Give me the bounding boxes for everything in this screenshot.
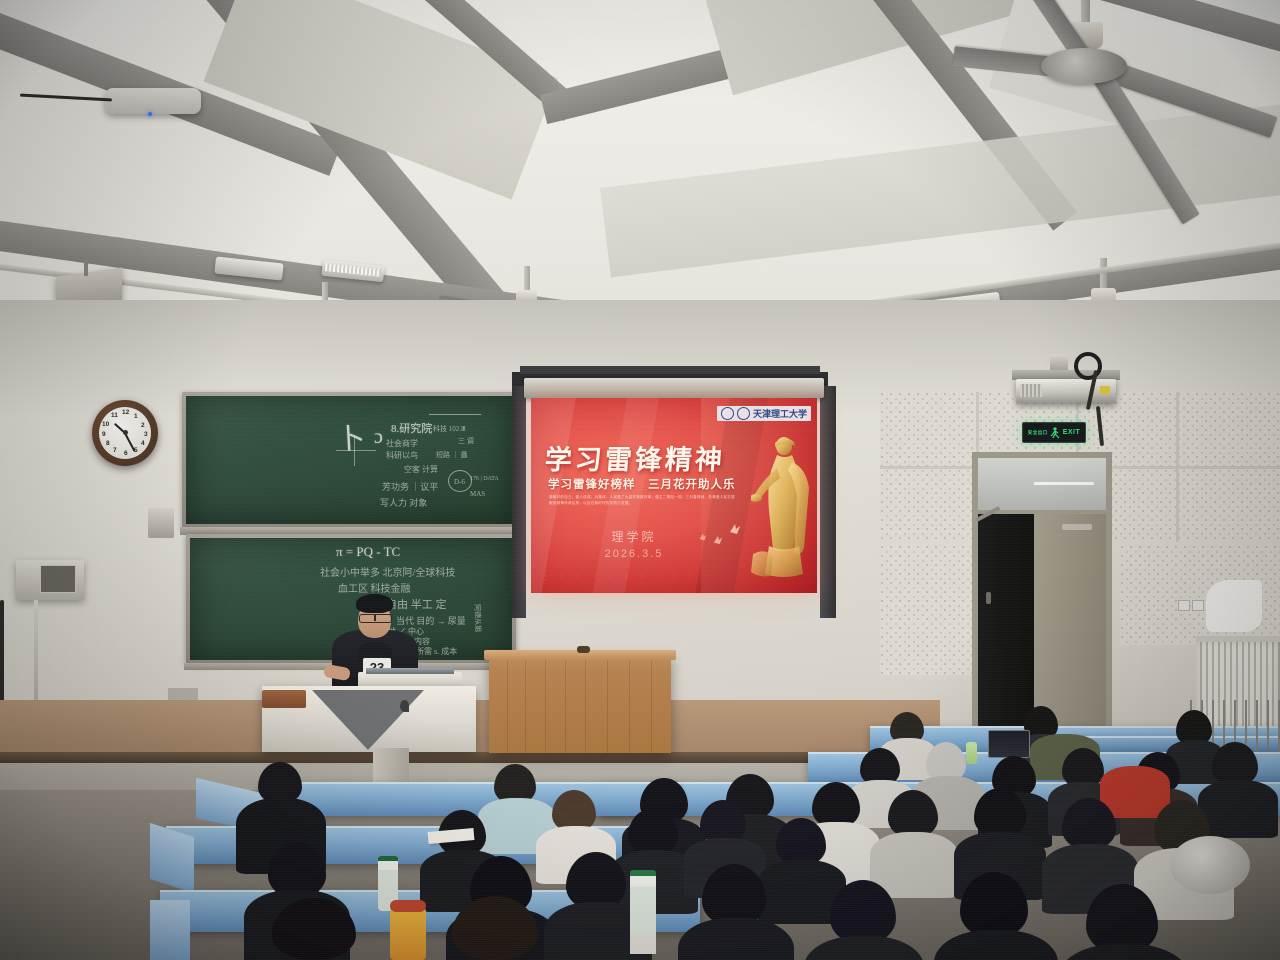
wall-paint-patch: [1206, 580, 1262, 632]
exit-sign-chinese: 安全出口: [1028, 430, 1048, 436]
tjut-emblem-icon: [721, 407, 734, 420]
wall-speaker: [148, 508, 174, 538]
radiator-top-rail: [1196, 636, 1280, 642]
lecture-hall-photo: 12 1 2 3 4 5 6 7 8 9 10 11 卜 ɔ 8.研究院 社会商…: [0, 0, 1280, 960]
bottle-label: [630, 934, 656, 954]
clock-numeral: 3: [144, 431, 148, 438]
projector-mount: [1050, 354, 1068, 370]
chalk-note: 科技 102.Ⅲ: [433, 424, 466, 434]
chalk-note: MAS: [470, 490, 485, 498]
wall-outlet: [1192, 600, 1204, 611]
chalk-line: 所需 s. 成本: [416, 646, 457, 657]
podium-monitor: [366, 668, 454, 674]
chalk-note: 短路 ｜ 蟲: [436, 450, 468, 460]
presenter-hair: [356, 594, 393, 613]
university-name: 天津理工大学: [753, 407, 807, 420]
chalk-line: 社会小中举多 北京阿/全球科技: [320, 564, 455, 579]
window-reflection: [1034, 482, 1094, 485]
slide-date: 2026.3.5: [531, 548, 737, 560]
chalk-line: 芳功务 ｜议平: [382, 480, 438, 493]
screen-soffit: [520, 366, 820, 374]
laptop[interactable]: [988, 730, 1030, 758]
fan-hub: [1041, 48, 1127, 84]
podium-side-shelf: [262, 690, 306, 708]
door-handle: [986, 592, 991, 604]
clock-numeral: 4: [141, 440, 145, 447]
projector-label: [1100, 386, 1110, 394]
podium-keyhole-icon: [400, 700, 409, 712]
clock-numeral: 12: [122, 409, 129, 416]
chalk-line: 社会商学: [386, 438, 418, 449]
screen-side-wall: [512, 386, 526, 618]
clock-numeral: 7: [113, 447, 117, 454]
podium-front-panel: [312, 690, 424, 750]
clock-numeral: 2: [141, 422, 145, 429]
desk-side-panel: [150, 900, 190, 960]
chalk-line: 空客 计算: [404, 464, 438, 475]
floodlight-bracket: [84, 258, 88, 276]
chalk-line: π = PQ - TC: [336, 544, 400, 560]
stage-edge: [0, 752, 940, 763]
water-bottle: [630, 870, 656, 942]
slide-subtitle: 学习雷锋好榜样 三月花开助人乐: [548, 476, 744, 492]
ceiling: [0, 0, 1280, 345]
chalk-line: 科研以鸟: [386, 450, 418, 461]
clock-numeral: 9: [102, 431, 106, 438]
chalk-line: 写人力 对象: [380, 496, 427, 509]
clock-numeral: 8: [106, 440, 110, 447]
clock-minute-hand: [124, 432, 135, 451]
clock-numeral: 10: [102, 421, 109, 428]
cable-coil: [1074, 352, 1102, 380]
chalk-note: 176 | DATA: [470, 476, 499, 482]
desk-object: [577, 646, 590, 653]
university-logo-bar: 天津理工大学: [717, 406, 811, 421]
slide-main-title: 学习雷锋精神: [544, 438, 737, 477]
tjut-emblem-icon: [737, 407, 750, 420]
electrical-junction-box: [16, 560, 84, 600]
chalk-note: 三 调: [458, 436, 474, 446]
slide-organization: 理学院: [531, 528, 737, 545]
slide-footer: • • • • • • • • • • • •: [545, 574, 725, 582]
exit-sign-english: EXIT: [1063, 429, 1081, 436]
ceiling-projector: [1012, 366, 1120, 406]
upper-blackboard-frame: 卜 ɔ 8.研究院 社会商学 科研以鸟 空客 计算 芳功务 ｜议平 写人力 对象…: [182, 392, 518, 528]
door-open-leaf: [978, 514, 1034, 742]
projection-screen[interactable]: 天津理工大学: [531, 398, 817, 593]
fur-hood: [1170, 836, 1250, 894]
running-man-icon: [1050, 427, 1061, 439]
wifi-access-point: [105, 88, 201, 114]
thermos-cap: [390, 900, 426, 912]
wifi-led: [148, 112, 152, 116]
clock-numeral: 11: [111, 412, 118, 419]
exit-sign: 安全出口 EXIT: [1022, 422, 1086, 443]
wall-clock: 12 1 2 3 4 5 6 7 8 9 10 11: [92, 400, 158, 466]
screen-housing: [524, 378, 824, 398]
door-closer: [1062, 524, 1092, 530]
projector-vent: [1020, 384, 1042, 397]
wooden-demonstration-desk: [489, 655, 671, 753]
upper-blackboard: 卜 ɔ 8.研究院 社会商学 科研以鸟 空客 计算 芳功务 ｜议平 写人力 对象…: [186, 396, 514, 524]
wall-outlet: [1178, 600, 1190, 611]
clock-numeral: 1: [134, 413, 138, 420]
screen-side-wall: [820, 386, 836, 618]
thermos: [390, 906, 426, 960]
water-bottle: [966, 742, 977, 764]
classroom-door[interactable]: [972, 452, 1112, 742]
lei-feng-statue: [751, 428, 813, 578]
clock-numeral: 6: [124, 450, 128, 457]
slide-body-text: 做最好的自己，做人低调，为集体，人民做了大量好事做好事；做主二第站一岗，三月春绿…: [549, 494, 737, 506]
chalk-line: 8.研究院: [391, 420, 432, 436]
